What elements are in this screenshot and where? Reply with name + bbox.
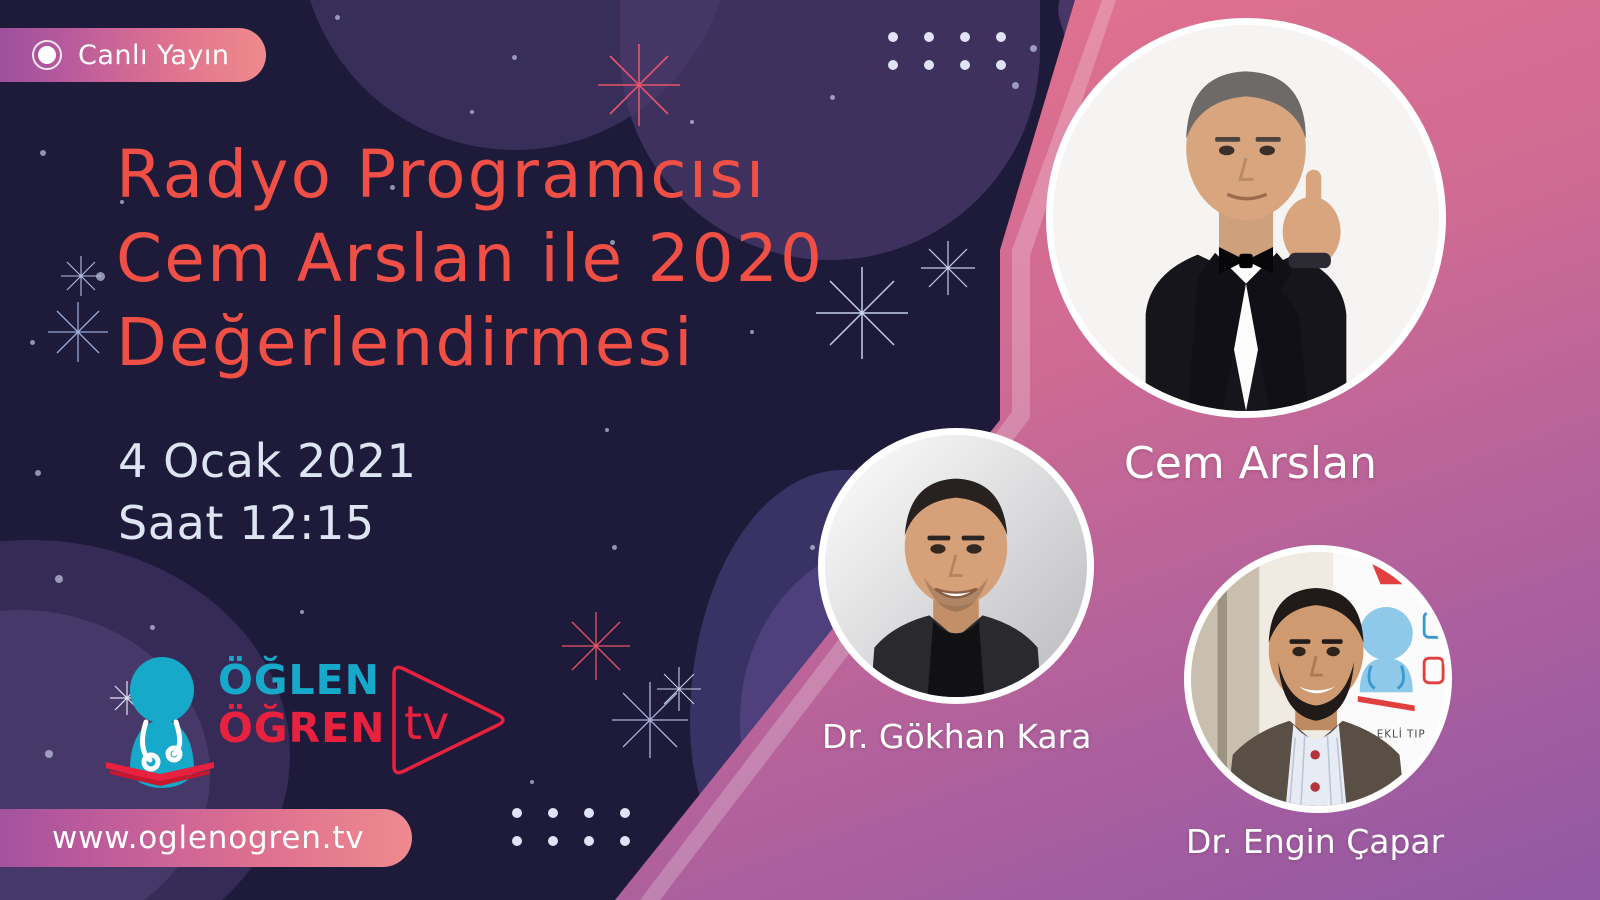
dot-grid-bottom <box>512 808 656 864</box>
star-dot <box>612 545 617 550</box>
headline-line-1: Radyo Programcısı <box>116 133 824 217</box>
event-date: 4 Ocak 2021 <box>118 430 417 492</box>
tv-play-icon: tv <box>380 660 510 780</box>
logo-wordmark: ÖĞLEN ÖĞREN <box>218 656 385 752</box>
star-dot <box>55 575 63 583</box>
speaker-name-1: Cem Arslan <box>1124 438 1377 489</box>
logo-word-ogren: ÖĞREN <box>218 704 385 752</box>
promo-poster: Canlı Yayın Radyo Programcısı Cem Arslan… <box>0 0 1600 900</box>
event-time: Saat 12:15 <box>118 492 417 554</box>
sparkle-star-icon <box>814 265 910 361</box>
live-badge-label: Canlı Yayın <box>78 40 230 71</box>
star-dot <box>40 150 46 156</box>
sparkle-star-icon <box>60 255 102 297</box>
sparkle-star-icon <box>46 300 110 364</box>
star-dot <box>35 470 41 476</box>
star-dot <box>150 625 155 630</box>
star-dot <box>30 340 35 345</box>
doctor-figure-icon <box>100 650 220 790</box>
headline-line-2: Cem Arslan ile 2020 <box>116 217 824 301</box>
avatar: EKLİ TIP ww. <box>1191 552 1445 806</box>
portrait-engin-capar: EKLİ TIP ww. <box>1184 545 1452 813</box>
website-url-text: www.oglenogren.tv <box>52 820 364 856</box>
portrait-gokhan-kara <box>818 428 1094 704</box>
portrait-cem-arslan <box>1046 18 1446 418</box>
star-dot <box>470 110 474 114</box>
svg-text:EKLİ TIP: EKLİ TIP <box>1377 728 1426 741</box>
star-dot <box>690 120 694 124</box>
sparkle-star-icon <box>596 42 682 128</box>
sparkle-star-icon <box>560 610 632 682</box>
tv-label: tv <box>404 696 449 750</box>
star-dot <box>830 95 835 100</box>
avatar <box>825 435 1087 697</box>
speaker-name-3: Dr. Engin Çapar <box>1186 822 1444 861</box>
dot-grid-top <box>888 32 1032 88</box>
avatar <box>1053 25 1439 411</box>
star-dot <box>605 428 609 432</box>
website-url-pill[interactable]: www.oglenogren.tv <box>0 809 412 867</box>
speaker-name-2: Dr. Gökhan Kara <box>822 717 1091 756</box>
live-dot-icon <box>32 40 62 70</box>
star-dot <box>335 15 340 20</box>
schedule-block: 4 Ocak 2021 Saat 12:15 <box>118 430 417 554</box>
sparkle-star-icon <box>656 666 702 712</box>
page-title: Radyo Programcısı Cem Arslan ile 2020 De… <box>116 133 824 385</box>
star-dot <box>45 750 53 758</box>
headline-line-3: Değerlendirmesi <box>116 301 824 385</box>
star-dot <box>810 545 815 550</box>
live-broadcast-badge: Canlı Yayın <box>0 28 266 82</box>
sparkle-star-icon <box>920 240 976 296</box>
logo-word-oglen: ÖĞLEN <box>218 656 385 704</box>
star-dot <box>300 610 304 614</box>
brand-logo: ÖĞLEN ÖĞREN tv <box>100 650 520 790</box>
star-dot <box>530 780 534 784</box>
star-dot <box>512 55 517 60</box>
